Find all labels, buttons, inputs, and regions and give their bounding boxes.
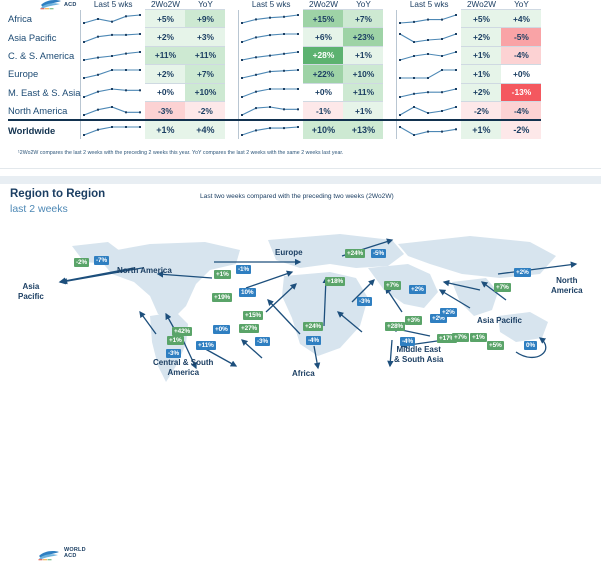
sparkline-2 bbox=[397, 46, 462, 64]
section-note: Last two weeks compared with the precedi… bbox=[200, 193, 394, 200]
flow-badge: +5% bbox=[487, 341, 504, 350]
table-header-row: Last 5 wks 2Wo2W YoY Last 5 wks 2Wo2W Yo… bbox=[8, 0, 541, 10]
flow-badge: +7% bbox=[494, 283, 511, 292]
sparkline-1 bbox=[239, 10, 304, 28]
sparkline-1 bbox=[239, 120, 304, 138]
section-band bbox=[0, 176, 601, 184]
cell-value: +4% bbox=[185, 120, 225, 138]
flow-badge: -4% bbox=[306, 336, 321, 345]
flow-badge: +19% bbox=[212, 293, 232, 302]
cell-value: +22% bbox=[303, 65, 343, 83]
flow-badge: +28% bbox=[385, 322, 405, 331]
map-region-label: Middle East& South Asia bbox=[394, 345, 443, 364]
sparkline-2 bbox=[397, 28, 462, 46]
col-header-4: 2Wo2W bbox=[303, 0, 343, 10]
cell-value: +6% bbox=[303, 28, 343, 46]
row-label-europe: Europe bbox=[8, 65, 81, 83]
cell-value: +1% bbox=[461, 65, 501, 83]
sparkline-1 bbox=[239, 65, 304, 83]
section-divider bbox=[0, 168, 601, 169]
row-label-c-s-america: C. & S. America bbox=[8, 46, 81, 64]
map-region-label: Central & SouthAmerica bbox=[153, 358, 213, 377]
region-col-header bbox=[8, 0, 81, 10]
cell-value: +4% bbox=[501, 10, 541, 28]
sparkline-0 bbox=[81, 101, 146, 120]
sparkline-0 bbox=[81, 28, 146, 46]
cell-value: -4% bbox=[501, 46, 541, 64]
industry-trends-table-panel: WORLDACD Last 5 wks 2Wo2W YoY Last 5 wks… bbox=[0, 0, 601, 170]
flow-badge: +2% bbox=[409, 285, 426, 294]
section-subtitle: last 2 weeks bbox=[10, 203, 68, 215]
col-header-5: YoY bbox=[343, 0, 383, 10]
cell-value: +5% bbox=[461, 10, 501, 28]
flow-badge: +15% bbox=[243, 311, 263, 320]
sparkline-1 bbox=[239, 101, 304, 120]
col-header-1: 2Wo2W bbox=[145, 0, 185, 10]
flow-badge: +1% bbox=[470, 333, 487, 342]
col-header-7: 2Wo2W bbox=[461, 0, 501, 10]
flow-badge: +11% bbox=[196, 341, 216, 350]
cell-value: +1% bbox=[343, 46, 383, 64]
map-region-label: Europe bbox=[275, 248, 303, 258]
flow-badge: +1% bbox=[214, 270, 231, 279]
flow-badge: -3% bbox=[166, 349, 181, 358]
sparkline-0 bbox=[81, 65, 146, 83]
map-region-label: Asia Pacific bbox=[477, 316, 522, 326]
flow-badge: 10% bbox=[239, 288, 256, 297]
col-header-8: YoY bbox=[501, 0, 541, 10]
flow-badge: -5% bbox=[371, 249, 386, 258]
flow-badge: -3% bbox=[255, 337, 270, 346]
table-row: Africa+5%+9%+15%+7%+5%+4% bbox=[8, 10, 541, 28]
cell-value: +9% bbox=[185, 10, 225, 28]
cell-value: +2% bbox=[145, 28, 185, 46]
cell-value: +7% bbox=[343, 10, 383, 28]
table-row: Worldwide+1%+4%+10%+13%+1%-2% bbox=[8, 120, 541, 138]
flow-badge: -2% bbox=[74, 258, 89, 267]
table-row: M. East & S. Asia+0%+10%+0%+11%+2%-13% bbox=[8, 83, 541, 101]
worldacd-logo-bottom: WORLDACD bbox=[38, 546, 108, 564]
col-header-3: Last 5 wks bbox=[239, 0, 304, 10]
flow-badge: -1% bbox=[236, 265, 251, 274]
cell-value: -13% bbox=[501, 83, 541, 101]
col-header-6: Last 5 wks bbox=[397, 0, 462, 10]
flow-badge: +3% bbox=[405, 316, 422, 325]
table-row: C. & S. America+11%+11%+28%+1%+1%-4% bbox=[8, 46, 541, 64]
cell-value: +10% bbox=[185, 83, 225, 101]
col-header-0: Last 5 wks bbox=[81, 0, 146, 10]
cell-value: +10% bbox=[303, 120, 343, 138]
cell-value: +28% bbox=[303, 46, 343, 64]
row-label-north-america: North America bbox=[8, 101, 81, 120]
cell-value: -1% bbox=[303, 101, 343, 120]
cell-value: +7% bbox=[185, 65, 225, 83]
table-row: Europe+2%+7%+22%+10%+1%+0% bbox=[8, 65, 541, 83]
cell-value: +10% bbox=[343, 65, 383, 83]
flow-badge: +1% bbox=[167, 336, 184, 345]
row-label-asia-pacific: Asia Pacific bbox=[8, 28, 81, 46]
sparkline-0 bbox=[81, 46, 146, 64]
flow-badge: +42% bbox=[172, 327, 192, 336]
cell-value: +2% bbox=[145, 65, 185, 83]
flow-badge: +18% bbox=[325, 277, 345, 286]
cell-value: +0% bbox=[145, 83, 185, 101]
table-body: Africa+5%+9%+15%+7%+5%+4%Asia Pacific+2%… bbox=[8, 10, 541, 139]
region-to-region-panel: Region to Region last 2 weeks Last two w… bbox=[0, 176, 601, 400]
cell-value: -2% bbox=[461, 101, 501, 120]
sparkline-1 bbox=[239, 28, 304, 46]
worldacd-logo-text-bottom: WORLDACD bbox=[64, 547, 86, 559]
cell-value: +0% bbox=[501, 65, 541, 83]
sparkline-2 bbox=[397, 65, 462, 83]
cell-value: +1% bbox=[461, 120, 501, 138]
cell-value: +23% bbox=[343, 28, 383, 46]
cell-value: +1% bbox=[343, 101, 383, 120]
cell-value: +1% bbox=[461, 46, 501, 64]
sparkline-1 bbox=[239, 46, 304, 64]
col-header-2: YoY bbox=[185, 0, 225, 10]
cell-value: +5% bbox=[145, 10, 185, 28]
cell-value: +1% bbox=[145, 120, 185, 138]
sparkline-0 bbox=[81, 120, 146, 138]
cell-value: +11% bbox=[145, 46, 185, 64]
cell-value: +2% bbox=[461, 83, 501, 101]
flow-badge: +24% bbox=[303, 322, 323, 331]
cell-value: +15% bbox=[303, 10, 343, 28]
flow-badge: +7% bbox=[384, 281, 401, 290]
map-region-label: Africa bbox=[292, 369, 315, 379]
table-row: North America-3%-2%-1%+1%-2%-4% bbox=[8, 101, 541, 120]
map-region-label: NorthAmerica bbox=[551, 276, 583, 295]
flow-badge: +27% bbox=[239, 324, 259, 333]
sparkline-0 bbox=[81, 83, 146, 101]
row-label-africa: Africa bbox=[8, 10, 81, 28]
sparkline-0 bbox=[81, 10, 146, 28]
flow-badge: -3% bbox=[357, 297, 372, 306]
sparkline-2 bbox=[397, 101, 462, 120]
table-row: Asia Pacific+2%+3%+6%+23%+2%-5% bbox=[8, 28, 541, 46]
section-title: Region to Region bbox=[10, 188, 105, 200]
cell-value: -2% bbox=[185, 101, 225, 120]
flow-badge: -7% bbox=[94, 256, 109, 265]
flow-badge: 0% bbox=[524, 341, 537, 350]
cell-value: -4% bbox=[501, 101, 541, 120]
cell-value: -2% bbox=[501, 120, 541, 138]
cell-value: +11% bbox=[185, 46, 225, 64]
cell-value: +11% bbox=[343, 83, 383, 101]
worldacd-swoosh-icon-bottom bbox=[38, 548, 60, 561]
sparkline-2 bbox=[397, 83, 462, 101]
flow-badge: +7% bbox=[452, 333, 469, 342]
cell-value: +13% bbox=[343, 120, 383, 138]
flow-badge: +24% bbox=[345, 249, 365, 258]
cell-value: +3% bbox=[185, 28, 225, 46]
row-label-worldwide: Worldwide bbox=[8, 120, 81, 138]
map-region-label: AsiaPacific bbox=[18, 282, 44, 301]
sparkline-2 bbox=[397, 10, 462, 28]
sparkline-2 bbox=[397, 120, 462, 138]
flow-badge: +0% bbox=[213, 325, 230, 334]
cell-value: +2% bbox=[461, 28, 501, 46]
sparkline-1 bbox=[239, 83, 304, 101]
cell-value: -5% bbox=[501, 28, 541, 46]
table-footnote: ¹2Wo2W compares the last 2 weeks with th… bbox=[18, 150, 343, 156]
row-label-m-east-s-asia: M. East & S. Asia bbox=[8, 83, 81, 101]
map-region-label: North America bbox=[117, 266, 172, 276]
landmasses bbox=[72, 234, 556, 382]
cell-value: +0% bbox=[303, 83, 343, 101]
trends-table: Last 5 wks 2Wo2W YoY Last 5 wks 2Wo2W Yo… bbox=[8, 0, 541, 139]
cell-value: -3% bbox=[145, 101, 185, 120]
flow-badge: +2% bbox=[514, 268, 531, 277]
flow-badge: +2% bbox=[440, 308, 457, 317]
